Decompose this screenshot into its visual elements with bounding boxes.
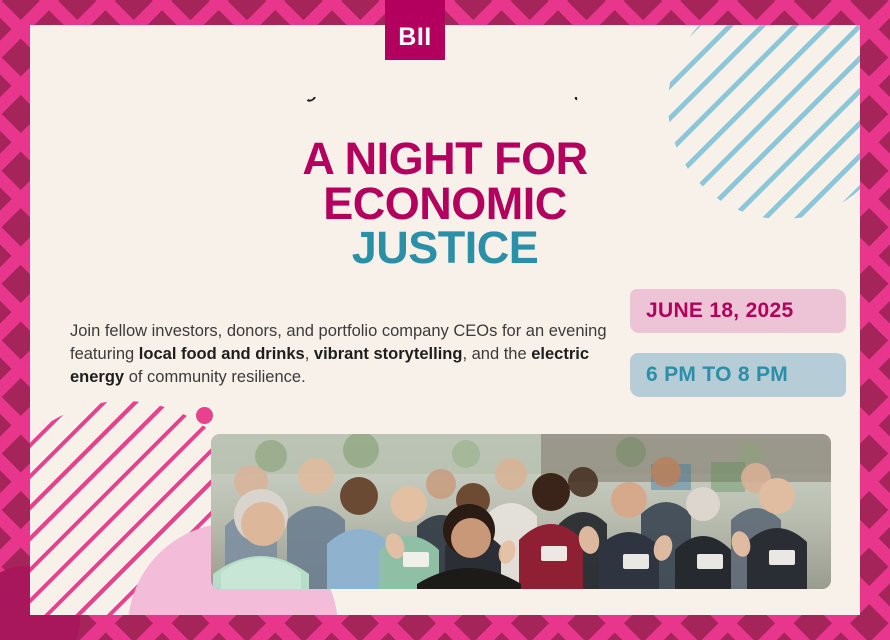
headline-line-1: A NIGHT FOR (30, 137, 860, 182)
headline-line-2: ECONOMIC (30, 182, 860, 227)
logo-text: BII (398, 25, 431, 60)
description-part-4: of community resilience. (124, 368, 306, 386)
eyebrow-textpath: STRONGER TOGETHER (300, 97, 589, 107)
headline-line-3: JUSTICE (30, 226, 860, 271)
event-date-badge: JUNE 18, 2025 (630, 289, 846, 333)
content-panel: STRONGER TOGETHER A NIGHT FOR ECONOMIC J… (30, 25, 860, 615)
event-date-label: JUNE 18, 2025 (646, 299, 794, 323)
description-bold-1: local food and drinks (139, 345, 305, 363)
eyebrow-text: STRONGER TOGETHER (300, 97, 589, 107)
organization-logo: BII (385, 0, 445, 60)
event-time-badge: 6 PM TO 8 PM (630, 353, 846, 397)
event-time-label: 6 PM TO 8 PM (646, 363, 788, 387)
pink-dot-decoration (196, 407, 213, 424)
description-bold-2: vibrant storytelling (314, 345, 463, 363)
event-photo-illustration (211, 434, 831, 589)
page-title: A NIGHT FOR ECONOMIC JUSTICE (30, 137, 860, 271)
event-invitation-poster: STRONGER TOGETHER A NIGHT FOR ECONOMIC J… (0, 0, 890, 640)
description-part-2: , (305, 345, 314, 363)
description-part-3: , and the (462, 345, 531, 363)
event-description: Join fellow investors, donors, and portf… (70, 320, 610, 390)
event-photo (211, 434, 831, 589)
